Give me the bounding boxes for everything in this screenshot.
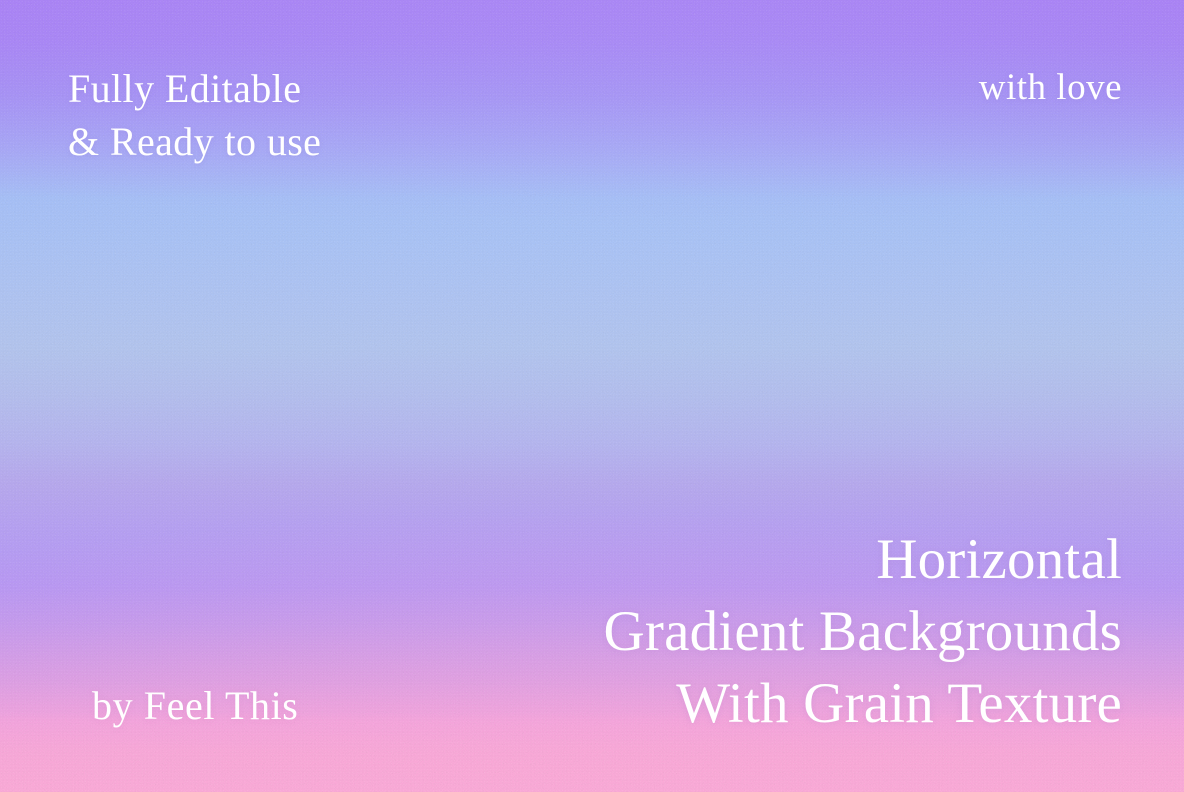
gradient-poster: Fully Editable & Ready to use with love …	[0, 0, 1184, 792]
headline-line-2: Gradient Backgrounds	[604, 596, 1122, 668]
with-love-text: with love	[979, 66, 1122, 110]
headline-line-1: Horizontal	[604, 524, 1122, 596]
headline-line-3: With Grain Texture	[604, 668, 1122, 740]
headline-block: Horizontal Gradient Backgrounds With Gra…	[604, 524, 1122, 739]
byline-text: by Feel This	[92, 682, 298, 730]
poster-content: Fully Editable & Ready to use with love …	[0, 0, 1184, 792]
tagline-text: Fully Editable & Ready to use	[68, 62, 321, 168]
